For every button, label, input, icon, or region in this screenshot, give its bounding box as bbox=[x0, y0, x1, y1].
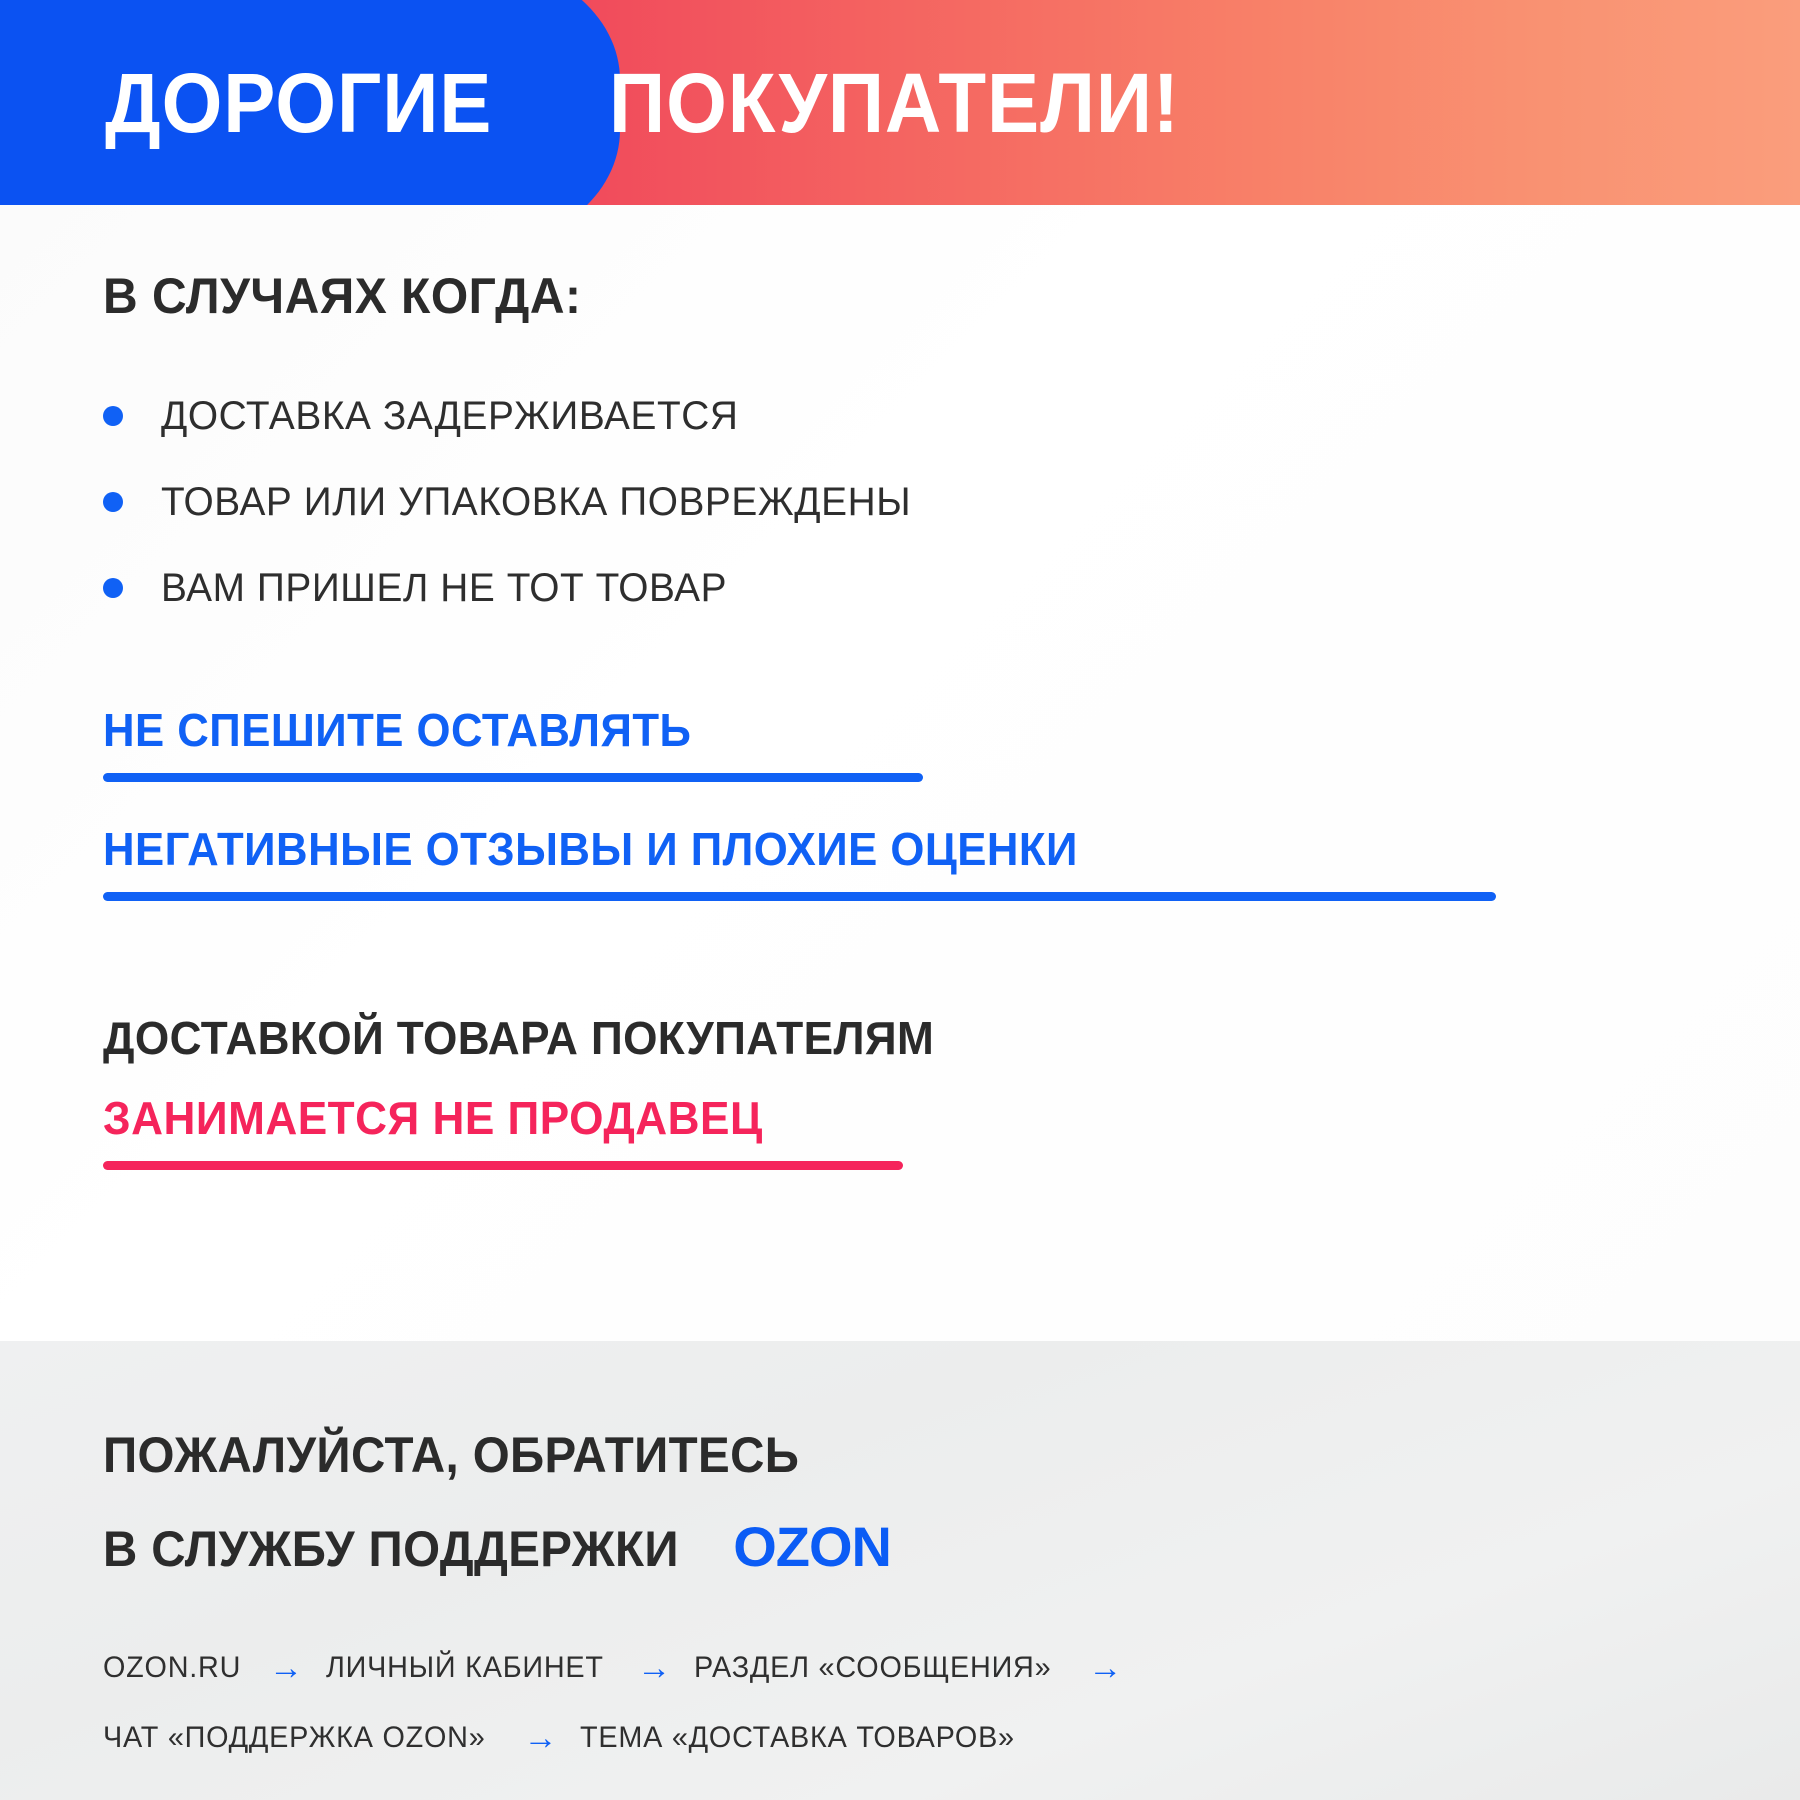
footer-cta: ПОЖАЛУЙСТА, ОБРАТИТЕСЬ В СЛУЖБУ ПОДДЕРЖК… bbox=[103, 1426, 1703, 1579]
header-banner: ДОРОГИЕ ПОКУПАТЕЛИ! bbox=[0, 0, 1800, 205]
warning-line-2: НЕГАТИВНЫЕ ОТЗЫВЫ И ПЛОХИЕ ОЦЕНКИ bbox=[103, 822, 1078, 876]
cases-bullet-list: ДОСТАВКА ЗАДЕРЖИВАЕТСЯ ТОВАР ИЛИ УПАКОВК… bbox=[103, 373, 1703, 631]
breadcrumb-step-messages-section: РАЗДЕЛ «СООБЩЕНИЯ» bbox=[694, 1651, 1051, 1685]
main-content: В СЛУЧАЯХ КОГДА: ДОСТАВКА ЗАДЕРЖИВАЕТСЯ … bbox=[103, 205, 1703, 1170]
bullet-dot-icon bbox=[103, 406, 123, 426]
breadcrumb-continued: ЧАТ «ПОДДЕРЖКА OZON» → ТЕМА «ДОСТАВКА ТО… bbox=[103, 1721, 1703, 1755]
statement-block: ДОСТАВКОЙ ТОВАРА ПОКУПАТЕЛЯМ ЗАНИМАЕТСЯ … bbox=[103, 1011, 1703, 1170]
arrow-right-icon: → bbox=[523, 1721, 558, 1755]
arrow-right-icon: → bbox=[269, 1651, 304, 1685]
header-word-primary: ДОРОГИЕ bbox=[105, 61, 492, 145]
poster-root: ДОРОГИЕ ПОКУПАТЕЛИ! В СЛУЧАЯХ КОГДА: ДОС… bbox=[0, 0, 1800, 1800]
breadcrumb-step-support-chat: ЧАТ «ПОДДЕРЖКА OZON» bbox=[103, 1721, 486, 1755]
warning-underline-1 bbox=[103, 773, 923, 782]
bullet-label: ДОСТАВКА ЗАДЕРЖИВАЕТСЯ bbox=[161, 394, 738, 439]
bullet-dot-icon bbox=[103, 578, 123, 598]
warning-underline-2 bbox=[103, 892, 1496, 901]
list-item: ДОСТАВКА ЗАДЕРЖИВАЕТСЯ bbox=[103, 373, 1703, 459]
footer-content: ПОЖАЛУЙСТА, ОБРАТИТЕСЬ В СЛУЖБУ ПОДДЕРЖК… bbox=[103, 1341, 1703, 1755]
bullet-label: ТОВАР ИЛИ УПАКОВКА ПОВРЕЖДЕНЫ bbox=[161, 480, 911, 525]
statement-line-2: ЗАНИМАЕТСЯ НЕ ПРОДАВЕЦ bbox=[103, 1091, 763, 1145]
main-content-area: В СЛУЧАЯХ КОГДА: ДОСТАВКА ЗАДЕРЖИВАЕТСЯ … bbox=[0, 205, 1800, 1341]
footer-cta-line-2: В СЛУЖБУ ПОДДЕРЖКИ bbox=[103, 1520, 679, 1578]
breadcrumb-step-ozon-ru: OZON.RU bbox=[103, 1651, 241, 1685]
statement-underline bbox=[103, 1161, 903, 1170]
arrow-right-icon: → bbox=[1088, 1651, 1123, 1685]
header-word-secondary: ПОКУПАТЕЛИ! bbox=[609, 61, 1180, 145]
warning-block-line-1: НЕ СПЕШИТЕ ОСТАВЛЯТЬ bbox=[103, 703, 1703, 782]
breadcrumb-step-delivery-topic: ТЕМА «ДОСТАВКА ТОВАРОВ» bbox=[580, 1721, 1015, 1755]
statement-line-1: ДОСТАВКОЙ ТОВАРА ПОКУПАТЕЛЯМ bbox=[103, 1011, 934, 1065]
footer-cta-line-1: ПОЖАЛУЙСТА, ОБРАТИТЕСЬ bbox=[103, 1426, 799, 1484]
section-heading-cases: В СЛУЧАЯХ КОГДА: bbox=[103, 267, 1639, 325]
header-title: ДОРОГИЕ ПОКУПАТЕЛИ! bbox=[0, 0, 1800, 205]
warning-line-1: НЕ СПЕШИТЕ ОСТАВЛЯТЬ bbox=[103, 703, 691, 757]
arrow-right-icon: → bbox=[637, 1651, 672, 1685]
bullet-dot-icon bbox=[103, 492, 123, 512]
ozon-logo: OZON bbox=[733, 1514, 891, 1579]
footer-area: ПОЖАЛУЙСТА, ОБРАТИТЕСЬ В СЛУЖБУ ПОДДЕРЖК… bbox=[0, 1341, 1800, 1800]
bullet-label: ВАМ ПРИШЕЛ НЕ ТОТ ТОВАР bbox=[161, 566, 727, 611]
list-item: ТОВАР ИЛИ УПАКОВКА ПОВРЕЖДЕНЫ bbox=[103, 459, 1703, 545]
warning-block-line-2: НЕГАТИВНЫЕ ОТЗЫВЫ И ПЛОХИЕ ОЦЕНКИ bbox=[103, 822, 1703, 901]
list-item: ВАМ ПРИШЕЛ НЕ ТОТ ТОВАР bbox=[103, 545, 1703, 631]
breadcrumb: OZON.RU → ЛИЧНЫЙ КАБИНЕТ → РАЗДЕЛ «СООБЩ… bbox=[103, 1651, 1703, 1685]
warning-text-wrap-2: НЕГАТИВНЫЕ ОТЗЫВЫ И ПЛОХИЕ ОЦЕНКИ bbox=[103, 822, 1129, 876]
warning-text-wrap-1: НЕ СПЕШИТЕ ОСТАВЛЯТЬ bbox=[103, 703, 722, 757]
breadcrumb-step-personal-account: ЛИЧНЫЙ КАБИНЕТ bbox=[326, 1651, 604, 1685]
